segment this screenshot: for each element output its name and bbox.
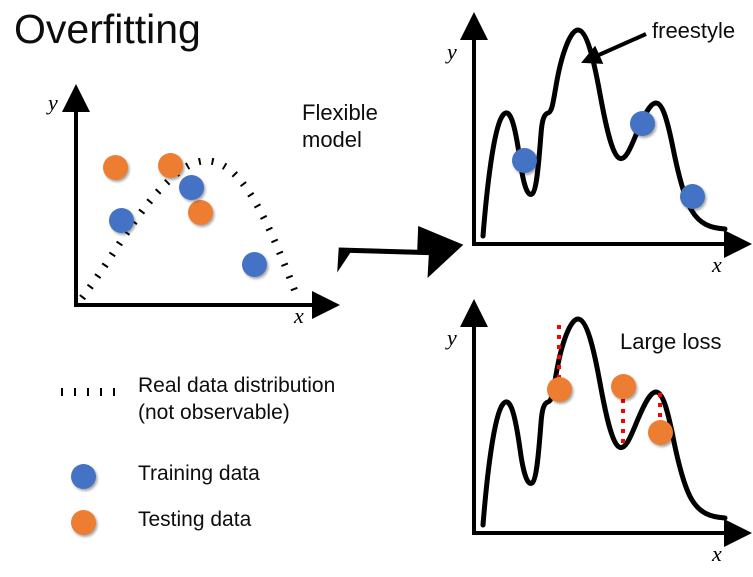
training-data-point [179,175,204,200]
y-axis-label-bottomright: y [447,327,457,349]
blue-dot-icon [71,464,96,489]
training-data-point [512,148,537,173]
freestyle-pointer-arrow [592,34,646,58]
flexible-model-chart: y x freestyle [440,8,753,288]
freestyle-annotation: freestyle [652,17,735,45]
flexible-model-label-line2: model [302,126,362,154]
training-data-point [242,252,267,277]
flexible-model-label-line1: Flexible [302,99,378,127]
x-axis-label-topright: x [712,254,722,276]
testing-data-point [158,153,183,178]
flexible-model-plot [440,8,753,288]
testing-data-point [648,420,673,445]
testing-data-point [103,155,128,180]
training-data-point [680,184,705,209]
x-axis-label-left: x [294,305,304,327]
x-axis-label-bottomright: x [712,543,722,565]
dotted-line-icon [58,388,122,396]
large-loss-annotation: Large loss [620,328,722,356]
page-title: Overfitting [14,7,201,52]
legend-label-line1: Training data [138,461,260,488]
real-distribution-chart: y x [44,96,344,336]
legend-label-line1: Testing data [138,507,251,534]
legend-label-line1: Real data distribution [138,373,335,400]
large-loss-chart: y x Large loss [440,303,753,577]
axes-topright [472,36,728,246]
y-axis-label-left: y [48,92,58,114]
legend-label-line2: (not observable) [138,400,290,427]
training-data-point [109,208,134,233]
training-data-point [630,111,655,136]
y-axis-label-topright: y [447,41,457,63]
slide-canvas: Overfitting y x [0,0,753,577]
testing-data-point [611,374,636,399]
testing-data-point [188,200,213,225]
orange-dot-icon [71,510,96,535]
testing-data-point [547,377,572,402]
